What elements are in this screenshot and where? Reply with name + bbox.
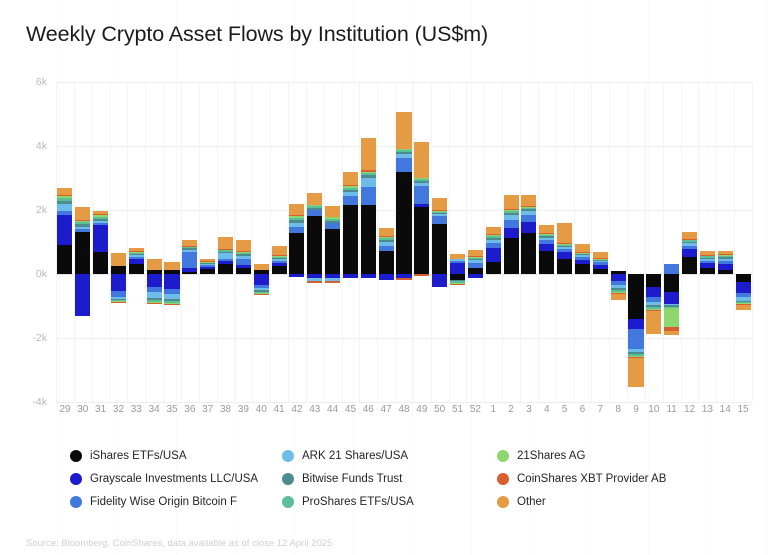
bar-segment bbox=[557, 223, 572, 243]
bar-segment bbox=[129, 248, 144, 251]
bar-segment bbox=[664, 292, 679, 304]
bar-segment bbox=[700, 251, 715, 255]
bar-segment bbox=[307, 208, 322, 210]
legend-swatch-icon bbox=[70, 496, 82, 508]
bar-segment bbox=[57, 215, 72, 245]
bar-segment bbox=[182, 246, 197, 247]
bar-segment bbox=[200, 267, 215, 269]
bar-segment bbox=[75, 220, 90, 221]
bar-segment bbox=[361, 187, 376, 205]
bar-segment bbox=[486, 240, 501, 244]
y-axis-tick-label: 2k bbox=[36, 204, 47, 216]
bar-segment bbox=[129, 253, 144, 254]
x-axis-tick-label: 35 bbox=[166, 404, 177, 415]
bar-segment bbox=[450, 259, 465, 261]
bar-segment bbox=[557, 247, 572, 249]
bar-segment bbox=[93, 252, 108, 274]
bar-segment bbox=[218, 264, 233, 274]
bar-segment bbox=[539, 238, 554, 241]
bar-segment bbox=[289, 218, 304, 220]
legend-swatch-icon bbox=[70, 473, 82, 485]
bar-segment bbox=[557, 259, 572, 274]
bar-segment bbox=[129, 257, 144, 259]
bar-segment bbox=[272, 266, 287, 274]
bar-stack[interactable] bbox=[521, 82, 536, 402]
bar-segment bbox=[289, 223, 304, 227]
bar-segment bbox=[57, 201, 72, 204]
x-axis-tick-label: 36 bbox=[184, 404, 195, 415]
bar-segment bbox=[236, 253, 251, 254]
x-axis-tick-label: 6 bbox=[580, 404, 586, 415]
chart-page: Weekly Crypto Asset Flows by Institution… bbox=[0, 0, 768, 555]
bar-stack[interactable] bbox=[182, 82, 197, 402]
bar-segment bbox=[575, 252, 590, 253]
bar-segment bbox=[682, 246, 697, 249]
bar-segment bbox=[414, 181, 429, 183]
bar-segment bbox=[147, 303, 162, 304]
bar-segment bbox=[343, 190, 358, 193]
bar-segment bbox=[468, 258, 483, 259]
x-axis-tick-label: 48 bbox=[398, 404, 409, 415]
bar-segment bbox=[504, 211, 519, 213]
bar-stack[interactable] bbox=[75, 82, 90, 402]
bar-stack[interactable] bbox=[718, 82, 733, 402]
bar-segment bbox=[182, 250, 197, 252]
x-axis-tick-label: 49 bbox=[416, 404, 427, 415]
bar-segment bbox=[486, 238, 501, 240]
bar-stack[interactable] bbox=[361, 82, 376, 402]
bar-segment bbox=[396, 172, 411, 274]
y-axis-tick-label: -2k bbox=[32, 332, 47, 344]
gridline-y--4k bbox=[56, 402, 752, 403]
bar-segment bbox=[93, 225, 108, 251]
bar-segment bbox=[682, 257, 697, 274]
bar-segment bbox=[325, 229, 340, 274]
plot-area: 6k4k2k0k-2k-4k29303132333435363738394041… bbox=[56, 82, 752, 402]
bar-segment bbox=[557, 245, 572, 246]
x-axis-tick-label: 46 bbox=[363, 404, 374, 415]
bar-segment bbox=[289, 233, 304, 274]
bar-segment bbox=[182, 268, 197, 272]
bar-segment bbox=[289, 274, 304, 277]
legend-label: ARK 21 Shares/USA bbox=[302, 450, 408, 462]
bar-segment bbox=[129, 259, 144, 265]
bar-segment bbox=[539, 244, 554, 251]
bar-segment bbox=[504, 215, 519, 220]
bar-segment bbox=[396, 154, 411, 158]
bar-segment bbox=[343, 185, 358, 186]
bar-stack[interactable] bbox=[379, 82, 394, 402]
bar-segment bbox=[182, 240, 197, 246]
bar-segment bbox=[646, 274, 661, 287]
bar-stack[interactable] bbox=[272, 82, 287, 402]
bar-segment bbox=[468, 260, 483, 263]
bar-segment bbox=[718, 264, 733, 270]
bar-segment bbox=[343, 186, 358, 188]
bar-stack[interactable] bbox=[164, 82, 179, 402]
bar-segment bbox=[75, 227, 90, 230]
bar-segment bbox=[361, 138, 376, 171]
bar-stack[interactable] bbox=[736, 82, 751, 402]
x-axis-tick-label: 44 bbox=[327, 404, 338, 415]
bar-segment bbox=[450, 261, 465, 264]
bar-segment bbox=[343, 188, 358, 190]
bar-segment bbox=[218, 250, 233, 251]
bar-stack[interactable] bbox=[664, 82, 679, 402]
bar-segment bbox=[611, 294, 626, 300]
bar-segment bbox=[93, 219, 108, 221]
legend-item[interactable]: Other bbox=[497, 496, 730, 508]
bar-segment bbox=[361, 274, 376, 278]
legend: iShares ETFs/USAGrayscale Investments LL… bbox=[70, 444, 730, 514]
bar-segment bbox=[521, 208, 536, 210]
bar-segment bbox=[575, 255, 590, 257]
bar-stack[interactable] bbox=[343, 82, 358, 402]
bar-segment bbox=[147, 259, 162, 270]
bar-segment bbox=[379, 251, 394, 274]
bar-segment bbox=[414, 204, 429, 207]
bar-stack[interactable] bbox=[414, 82, 429, 402]
bar-stack[interactable] bbox=[236, 82, 251, 402]
bar-segment bbox=[396, 149, 411, 150]
bar-stack[interactable] bbox=[557, 82, 572, 402]
bar-segment bbox=[289, 204, 304, 215]
bar-segment bbox=[557, 249, 572, 253]
bar-segment bbox=[593, 261, 608, 262]
bar-segment bbox=[414, 178, 429, 179]
bar-segment bbox=[557, 243, 572, 244]
legend-item[interactable]: ProShares ETFs/USA bbox=[282, 496, 497, 508]
bar-segment bbox=[343, 172, 358, 185]
legend-label: 21Shares AG bbox=[517, 450, 585, 462]
bar-stack[interactable] bbox=[593, 82, 608, 402]
bar-segment bbox=[414, 186, 429, 204]
bar-segment bbox=[611, 274, 626, 281]
x-axis-tick-label: 29 bbox=[59, 404, 70, 415]
x-axis-tick-label: 10 bbox=[648, 404, 659, 415]
bar-segment bbox=[236, 251, 251, 252]
bar-segment bbox=[307, 206, 322, 208]
bar-segment bbox=[272, 258, 287, 259]
legend-item[interactable]: Bitwise Funds Trust bbox=[282, 473, 497, 485]
legend-item[interactable]: ARK 21 Shares/USA bbox=[282, 450, 497, 462]
bar-segment bbox=[700, 255, 715, 256]
bar-stack[interactable] bbox=[646, 82, 661, 402]
bar-segment bbox=[75, 221, 90, 222]
bar-segment bbox=[200, 261, 215, 262]
bar-segment bbox=[57, 198, 72, 201]
bar-segment bbox=[664, 264, 679, 274]
bar-segment bbox=[700, 258, 715, 259]
bar-segment bbox=[700, 256, 715, 257]
bar-stack[interactable] bbox=[504, 82, 519, 402]
bar-segment bbox=[486, 234, 501, 235]
bar-stack[interactable] bbox=[700, 82, 715, 402]
bar-segment bbox=[504, 195, 519, 208]
bar-segment bbox=[664, 274, 679, 292]
bar-segment bbox=[575, 244, 590, 252]
bar-segment bbox=[504, 209, 519, 210]
bar-segment bbox=[682, 249, 697, 257]
bar-segment bbox=[57, 204, 72, 211]
bar-segment bbox=[254, 264, 269, 270]
bar-segment bbox=[182, 248, 197, 249]
x-axis-tick-label: 41 bbox=[274, 404, 285, 415]
x-axis-tick-label: 15 bbox=[738, 404, 749, 415]
legend-swatch-icon bbox=[497, 496, 509, 508]
bar-segment bbox=[200, 269, 215, 274]
bar-segment bbox=[218, 252, 233, 254]
bar-segment bbox=[539, 236, 554, 237]
x-axis-tick-label: 40 bbox=[256, 404, 267, 415]
legend-swatch-icon bbox=[497, 450, 509, 462]
bar-segment bbox=[272, 259, 287, 261]
bar-segment bbox=[736, 305, 751, 309]
bar-segment bbox=[57, 188, 72, 195]
bar-segment bbox=[379, 242, 394, 246]
bar-segment bbox=[57, 211, 72, 216]
bar-stack[interactable] bbox=[111, 82, 126, 402]
legend-swatch-icon bbox=[282, 496, 294, 508]
bar-segment bbox=[432, 213, 447, 214]
bar-segment bbox=[521, 211, 536, 215]
bar-stack[interactable] bbox=[325, 82, 340, 402]
x-axis-tick-label: 8 bbox=[615, 404, 621, 415]
legend-label: iShares ETFs/USA bbox=[90, 450, 187, 462]
bar-segment bbox=[539, 233, 554, 234]
bar-stack[interactable] bbox=[200, 82, 215, 402]
bar-segment bbox=[557, 252, 572, 258]
bar-segment bbox=[521, 206, 536, 207]
bar-segment bbox=[486, 227, 501, 234]
bar-segment bbox=[557, 246, 572, 247]
bar-segment bbox=[504, 238, 519, 274]
bar-stack[interactable] bbox=[682, 82, 697, 402]
bar-segment bbox=[325, 219, 340, 221]
bar-segment bbox=[468, 259, 483, 260]
bar-segment bbox=[504, 213, 519, 215]
x-axis-tick-label: 11 bbox=[666, 404, 676, 415]
bar-segment bbox=[539, 225, 554, 233]
bar-segment bbox=[521, 233, 536, 274]
bar-segment bbox=[361, 178, 376, 187]
bar-segment bbox=[521, 215, 536, 222]
bar-segment bbox=[129, 264, 144, 274]
bar-segment bbox=[628, 358, 643, 387]
bar-segment bbox=[396, 112, 411, 148]
legend-item[interactable]: 21Shares AG bbox=[497, 450, 730, 462]
bar-segment bbox=[379, 240, 394, 242]
legend-label: CoinShares XBT Provider AB bbox=[517, 473, 666, 485]
bar-stack[interactable] bbox=[396, 82, 411, 402]
bar-segment bbox=[593, 265, 608, 269]
bar-segment bbox=[361, 172, 376, 174]
bar-segment bbox=[432, 198, 447, 210]
x-axis-tick-label: 13 bbox=[702, 404, 713, 415]
bar-segment bbox=[289, 227, 304, 233]
bar-segment bbox=[164, 274, 179, 289]
bar-segment bbox=[628, 274, 643, 319]
bar-segment bbox=[539, 251, 554, 274]
bar-segment bbox=[396, 150, 411, 152]
x-axis-tick-label: 43 bbox=[309, 404, 320, 415]
bar-segment bbox=[93, 211, 108, 215]
legend-item[interactable]: Grayscale Investments LLC/USA bbox=[70, 473, 282, 485]
bar-segment bbox=[272, 261, 287, 263]
x-axis-tick-label: 12 bbox=[684, 404, 695, 415]
bar-segment bbox=[236, 256, 251, 260]
x-axis-tick-label: 3 bbox=[526, 404, 532, 415]
bar-segment bbox=[664, 308, 679, 327]
bar-segment bbox=[468, 250, 483, 256]
bar-segment bbox=[486, 248, 501, 262]
legend-item[interactable]: iShares ETFs/USA bbox=[70, 450, 282, 462]
bar-segment bbox=[147, 274, 162, 287]
bar-segment bbox=[450, 254, 465, 259]
bar-segment bbox=[504, 220, 519, 228]
bar-segment bbox=[93, 214, 108, 215]
bar-segment bbox=[129, 254, 144, 255]
bar-stack[interactable] bbox=[93, 82, 108, 402]
bar-segment bbox=[93, 223, 108, 226]
bar-segment bbox=[575, 257, 590, 260]
x-axis-tick-label: 47 bbox=[381, 404, 392, 415]
bar-segment bbox=[575, 260, 590, 264]
bar-segment bbox=[396, 278, 411, 280]
bar-segment bbox=[57, 195, 72, 196]
x-axis-tick-label: 7 bbox=[598, 404, 604, 415]
bar-segment bbox=[521, 206, 536, 207]
bar-segment bbox=[593, 258, 608, 259]
bar-segment bbox=[111, 266, 126, 274]
x-axis-tick-label: 52 bbox=[470, 404, 481, 415]
legend-item[interactable]: Fidelity Wise Origin Bitcoin F bbox=[70, 496, 282, 508]
bar-segment bbox=[432, 224, 447, 274]
bar-segment bbox=[307, 205, 322, 206]
bar-segment bbox=[129, 251, 144, 252]
bar-segment bbox=[307, 281, 322, 283]
bar-segment bbox=[75, 207, 90, 220]
bar-segment bbox=[93, 221, 108, 223]
x-axis-tick-label: 50 bbox=[434, 404, 445, 415]
bar-segment bbox=[289, 220, 304, 223]
bar-segment bbox=[200, 265, 215, 267]
bar-segment bbox=[343, 274, 358, 278]
bar-stack[interactable] bbox=[450, 82, 465, 402]
bar-stack[interactable] bbox=[254, 82, 269, 402]
bar-stack[interactable] bbox=[539, 82, 554, 402]
bar-segment bbox=[379, 246, 394, 251]
bar-segment bbox=[575, 254, 590, 255]
bar-stack[interactable] bbox=[486, 82, 501, 402]
bar-stack[interactable] bbox=[575, 82, 590, 402]
bar-stack[interactable] bbox=[147, 82, 162, 402]
bar-stack[interactable] bbox=[57, 82, 72, 402]
bar-stack[interactable] bbox=[218, 82, 233, 402]
bar-segment bbox=[504, 210, 519, 211]
bar-stack[interactable] bbox=[611, 82, 626, 402]
page-title: Weekly Crypto Asset Flows by Institution… bbox=[26, 22, 488, 47]
bar-segment bbox=[236, 240, 251, 251]
bar-stack[interactable] bbox=[307, 82, 322, 402]
bar-segment bbox=[414, 179, 429, 181]
bar-stack[interactable] bbox=[129, 82, 144, 402]
bar-segment bbox=[236, 259, 251, 265]
bar-segment bbox=[236, 265, 251, 268]
bar-segment bbox=[218, 237, 233, 249]
bar-segment bbox=[521, 222, 536, 233]
bar-segment bbox=[539, 240, 554, 244]
x-axis-tick-label: 32 bbox=[113, 404, 124, 415]
bar-segment bbox=[361, 205, 376, 274]
bar-segment bbox=[272, 246, 287, 256]
x-axis-tick-label: 39 bbox=[238, 404, 249, 415]
bar-segment bbox=[307, 193, 322, 204]
bar-segment bbox=[200, 259, 215, 261]
x-axis-tick-label: 5 bbox=[562, 404, 568, 415]
bar-segment bbox=[379, 237, 394, 238]
legend-label: Other bbox=[517, 496, 546, 508]
bar-segment bbox=[289, 216, 304, 218]
bar-segment bbox=[736, 282, 751, 293]
bar-segment bbox=[432, 212, 447, 213]
bar-segment bbox=[361, 173, 376, 175]
bar-segment bbox=[379, 236, 394, 237]
bar-segment bbox=[182, 272, 197, 274]
bar-stack[interactable] bbox=[289, 82, 304, 402]
bar-segment bbox=[450, 284, 465, 285]
bar-segment bbox=[682, 240, 697, 241]
bar-segment bbox=[593, 260, 608, 261]
x-axis-tick-label: 14 bbox=[720, 404, 731, 415]
bar-segment bbox=[539, 235, 554, 236]
bar-segment bbox=[414, 274, 429, 276]
bar-segment bbox=[486, 236, 501, 238]
bar-stack[interactable] bbox=[432, 82, 447, 402]
bar-segment bbox=[218, 253, 233, 258]
bar-segment bbox=[111, 253, 126, 266]
legend-label: Bitwise Funds Trust bbox=[302, 473, 402, 485]
bar-segment bbox=[200, 264, 215, 265]
bar-segment bbox=[432, 274, 447, 287]
x-axis-tick-label: 9 bbox=[633, 404, 639, 415]
bar-segment bbox=[682, 243, 697, 245]
bar-segment bbox=[628, 319, 643, 330]
bar-segment bbox=[414, 183, 429, 186]
bar-segment bbox=[164, 262, 179, 270]
legend-item[interactable]: CoinShares XBT Provider AB bbox=[497, 473, 730, 485]
bar-segment bbox=[236, 268, 251, 274]
bar-stack[interactable] bbox=[468, 82, 483, 402]
x-axis-tick-label: 38 bbox=[220, 404, 231, 415]
bar-segment bbox=[307, 216, 322, 274]
bar-stack[interactable] bbox=[628, 82, 643, 402]
bar-segment bbox=[218, 259, 233, 261]
bar-segment bbox=[593, 269, 608, 274]
x-axis-tick-label: 4 bbox=[544, 404, 550, 415]
bar-segment bbox=[343, 196, 358, 206]
bar-segment bbox=[75, 224, 90, 226]
bar-segment bbox=[682, 232, 697, 238]
bar-segment bbox=[379, 238, 394, 240]
bar-segment bbox=[718, 251, 733, 254]
bar-segment bbox=[325, 206, 340, 217]
bar-segment bbox=[682, 239, 697, 240]
legend-label: Grayscale Investments LLC/USA bbox=[90, 473, 258, 485]
bar-segment bbox=[289, 215, 304, 216]
bar-segment bbox=[325, 223, 340, 229]
bar-segment bbox=[521, 209, 536, 211]
